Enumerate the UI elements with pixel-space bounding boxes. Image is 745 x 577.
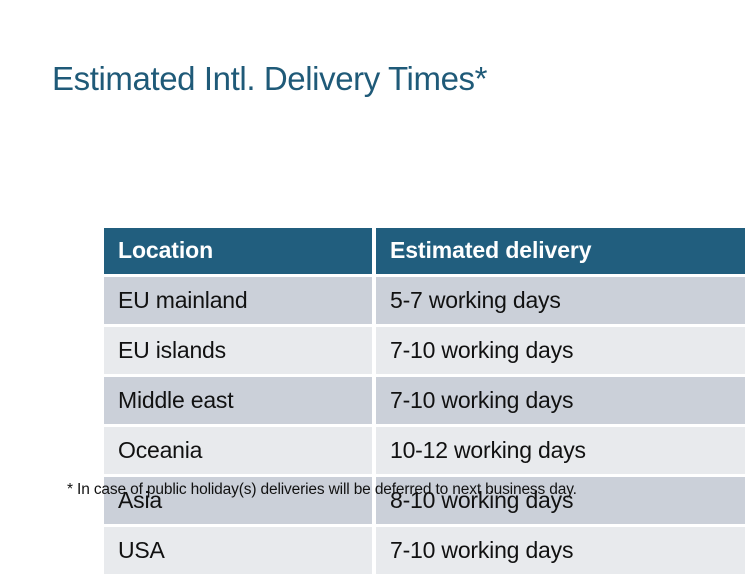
cell-location: EU mainland	[104, 277, 372, 324]
delivery-times-page: Estimated Intl. Delivery Times* Location…	[0, 0, 745, 536]
cell-location: EU islands	[104, 327, 372, 374]
cell-delivery: 7-10 working days	[376, 327, 745, 374]
column-header-location: Location	[104, 228, 372, 274]
table-header: Location Estimated delivery	[104, 228, 745, 274]
cell-delivery: 10-12 working days	[376, 427, 745, 474]
estimated-delivery-times-table: Location Estimated delivery EU mainland …	[100, 225, 745, 577]
cell-delivery: 7-10 working days	[376, 377, 745, 424]
cell-delivery: 7-10 working days	[376, 527, 745, 574]
column-header-estimated-delivery: Estimated delivery	[376, 228, 745, 274]
table-row: Middle east 7-10 working days	[104, 377, 745, 424]
cell-location: Middle east	[104, 377, 372, 424]
table-row: EU mainland 5-7 working days	[104, 277, 745, 324]
table-row: EU islands 7-10 working days	[104, 327, 745, 374]
table-row: USA 7-10 working days	[104, 527, 745, 574]
cell-location: Oceania	[104, 427, 372, 474]
page-title: Estimated Intl. Delivery Times*	[52, 58, 487, 100]
table-row: Oceania 10-12 working days	[104, 427, 745, 474]
table-body: EU mainland 5-7 working days EU islands …	[104, 277, 745, 574]
footnote-text: * In case of public holiday(s) deliverie…	[67, 481, 577, 499]
cell-location: USA	[104, 527, 372, 574]
table-header-row: Location Estimated delivery	[104, 228, 745, 274]
cell-delivery: 5-7 working days	[376, 277, 745, 324]
